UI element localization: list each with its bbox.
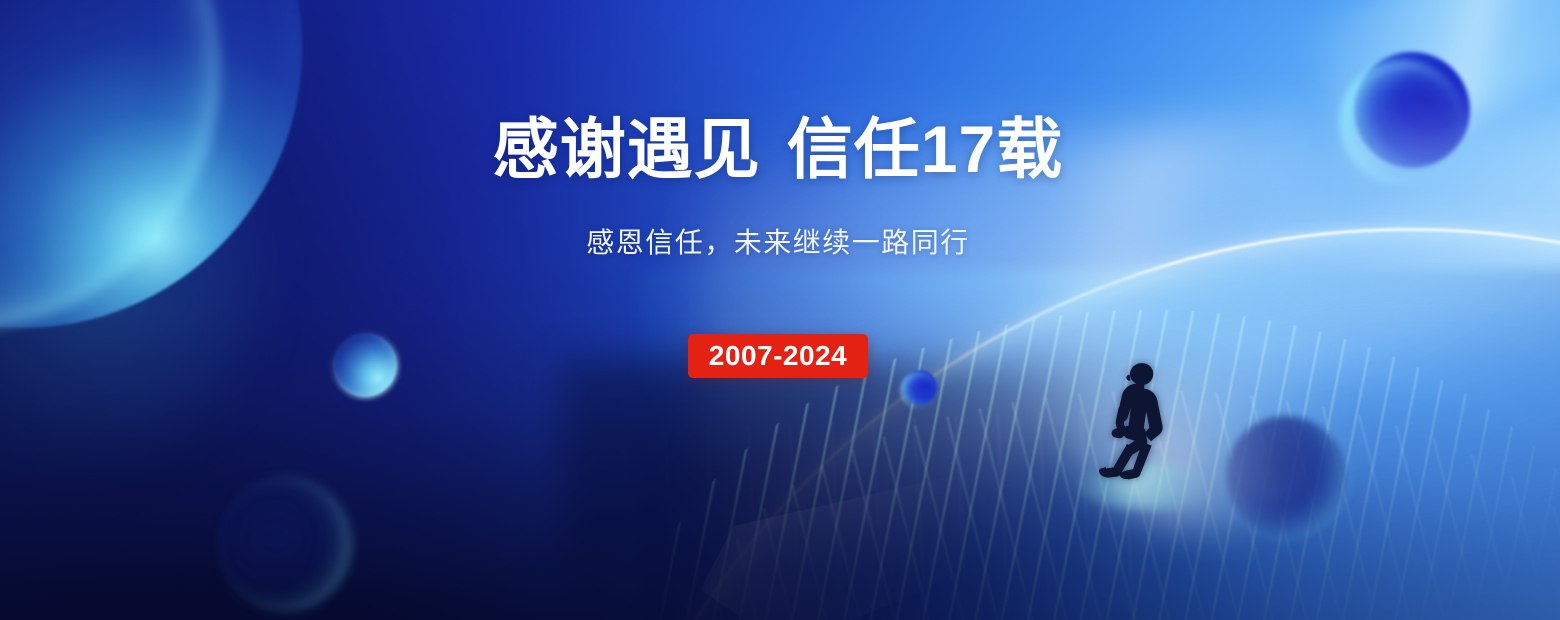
year-badge-row: 2007-2024 — [0, 334, 1558, 378]
page-title: 感谢遇见信任17载 — [0, 116, 1558, 182]
year-range-badge[interactable]: 2007-2024 — [688, 334, 868, 378]
headline-part-2: 信任17载 — [787, 112, 1063, 186]
banner-content: 感谢遇见信任17载 感恩信任，未来继续一路同行 2007-2024 — [0, 0, 1560, 620]
headline-part-1: 感谢遇见 — [493, 112, 761, 186]
page-subtitle: 感恩信任，未来继续一路同行 — [0, 226, 1558, 260]
anniversary-banner: 感谢遇见信任17载 感恩信任，未来继续一路同行 2007-2024 — [0, 0, 1560, 620]
